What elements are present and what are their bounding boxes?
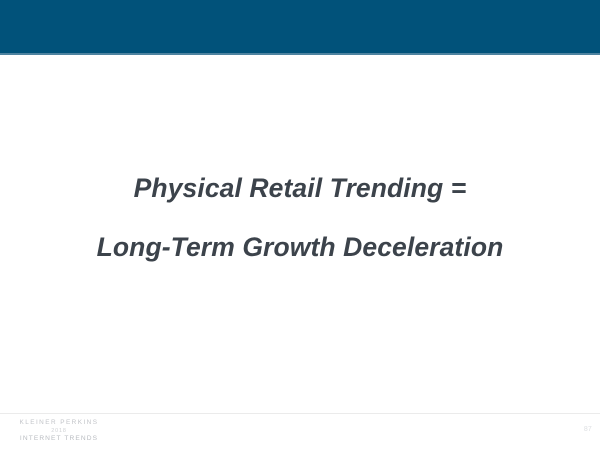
- header-band: [0, 0, 600, 53]
- slide-title: Physical Retail Trending = Long-Term Gro…: [0, 175, 600, 262]
- brand-name: KLEINER PERKINS: [7, 419, 111, 428]
- title-line-1: Physical Retail Trending =: [0, 175, 600, 203]
- brand-year: 2018: [7, 428, 111, 436]
- brand-report-title: INTERNET TRENDS: [7, 435, 111, 444]
- slide-footer: KLEINER PERKINS 2018 INTERNET TRENDS 87: [0, 414, 600, 450]
- page-number: 87: [584, 426, 592, 433]
- slide: Physical Retail Trending = Long-Term Gro…: [0, 0, 600, 450]
- slide-body: Physical Retail Trending = Long-Term Gro…: [0, 55, 600, 412]
- kleiner-perkins-logo: KLEINER PERKINS 2018 INTERNET TRENDS: [7, 419, 111, 444]
- title-line-2: Long-Term Growth Deceleration: [0, 234, 600, 262]
